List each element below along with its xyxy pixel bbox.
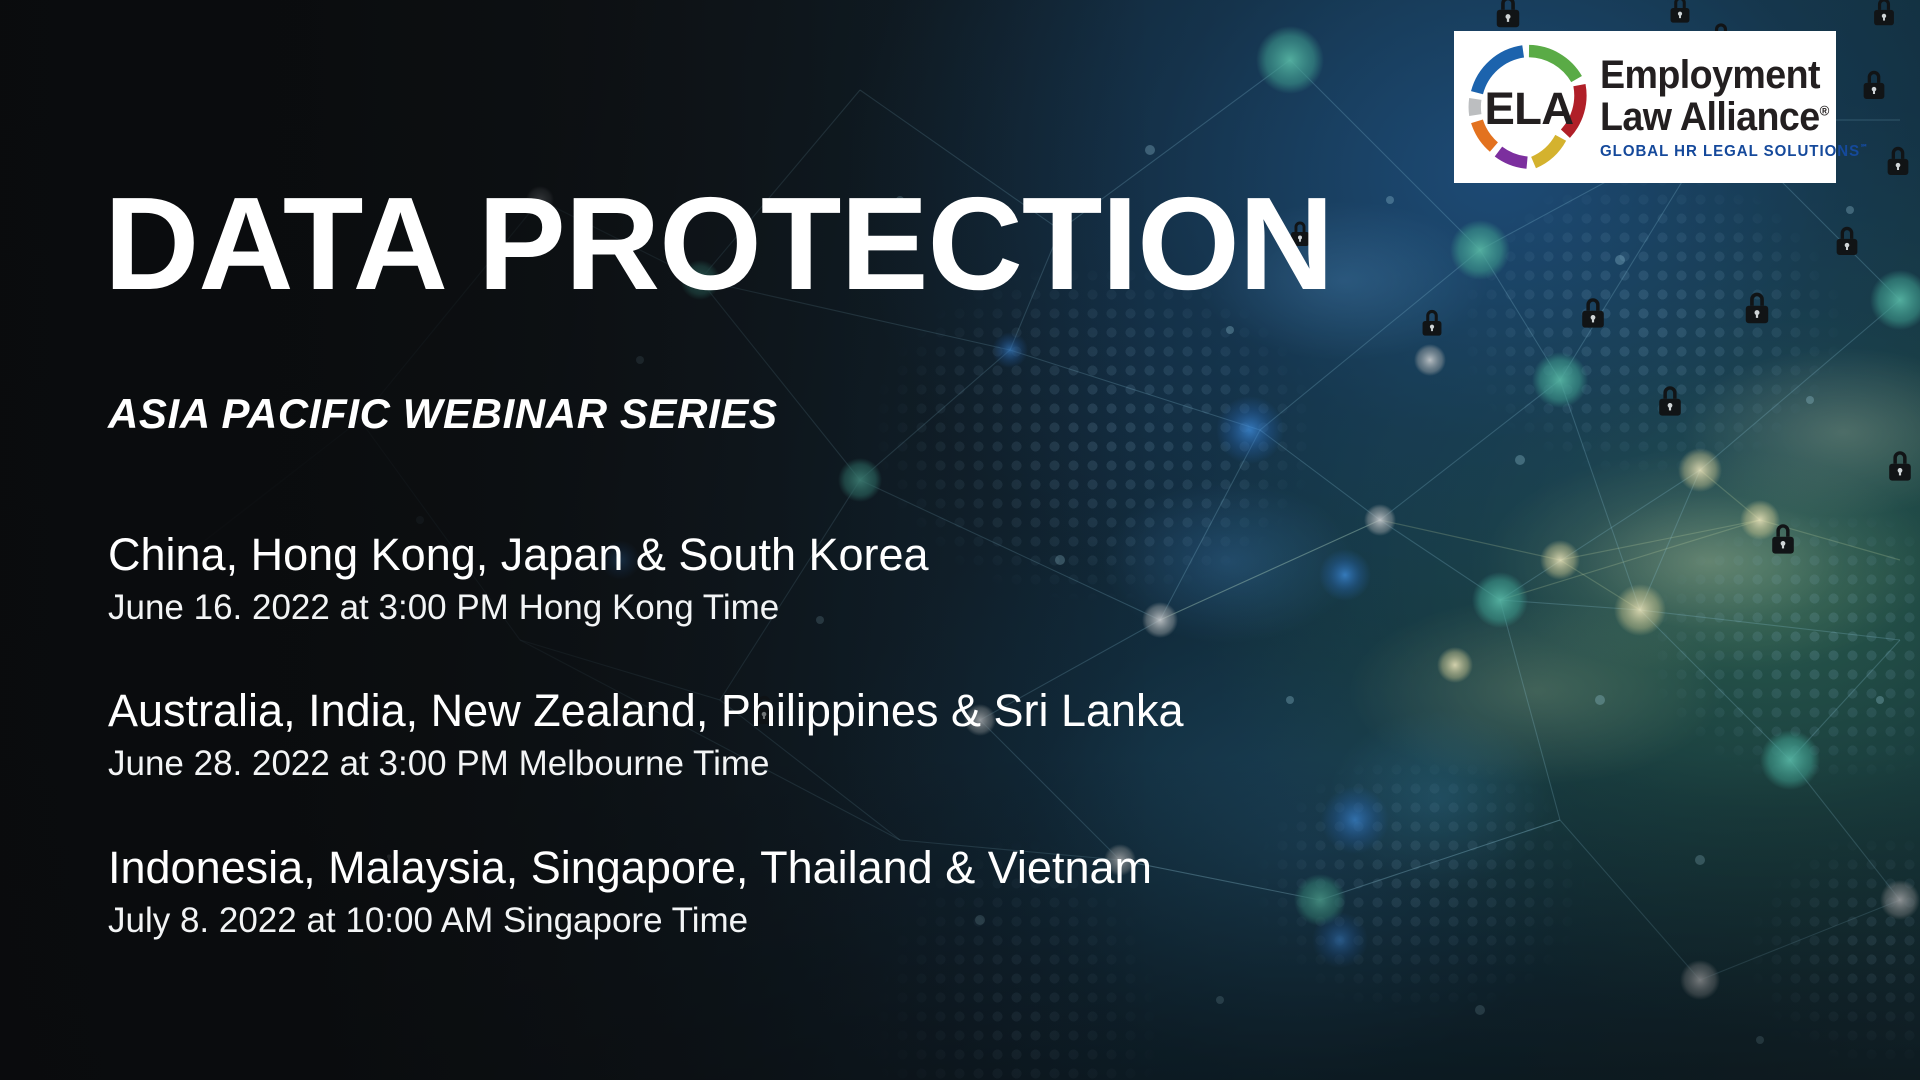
page-title: DATA PROTECTION bbox=[104, 178, 1333, 310]
page-subtitle: ASIA PACIFIC WEBINAR SERIES bbox=[108, 393, 778, 435]
webinar-promo-slide: ELA Employment Law Alliance® GLOBAL HR L… bbox=[0, 0, 1920, 1080]
list-item: Australia, India, New Zealand, Philippin… bbox=[108, 684, 1408, 784]
session-region: Indonesia, Malaysia, Singapore, Thailand… bbox=[108, 841, 1408, 894]
list-item: Indonesia, Malaysia, Singapore, Thailand… bbox=[108, 841, 1408, 941]
session-region: China, Hong Kong, Japan & South Korea bbox=[108, 528, 1408, 581]
session-region: Australia, India, New Zealand, Philippin… bbox=[108, 684, 1408, 737]
session-datetime: June 28. 2022 at 3:00 PM Melbourne Time bbox=[108, 743, 1408, 784]
session-datetime: June 16. 2022 at 3:00 PM Hong Kong Time bbox=[108, 587, 1408, 628]
slide-content: DATA PROTECTION ASIA PACIFIC WEBINAR SER… bbox=[0, 0, 1920, 1080]
session-datetime: July 8. 2022 at 10:00 AM Singapore Time bbox=[108, 900, 1408, 941]
webinar-session-list: China, Hong Kong, Japan & South Korea Ju… bbox=[108, 528, 1408, 941]
list-item: China, Hong Kong, Japan & South Korea Ju… bbox=[108, 528, 1408, 628]
